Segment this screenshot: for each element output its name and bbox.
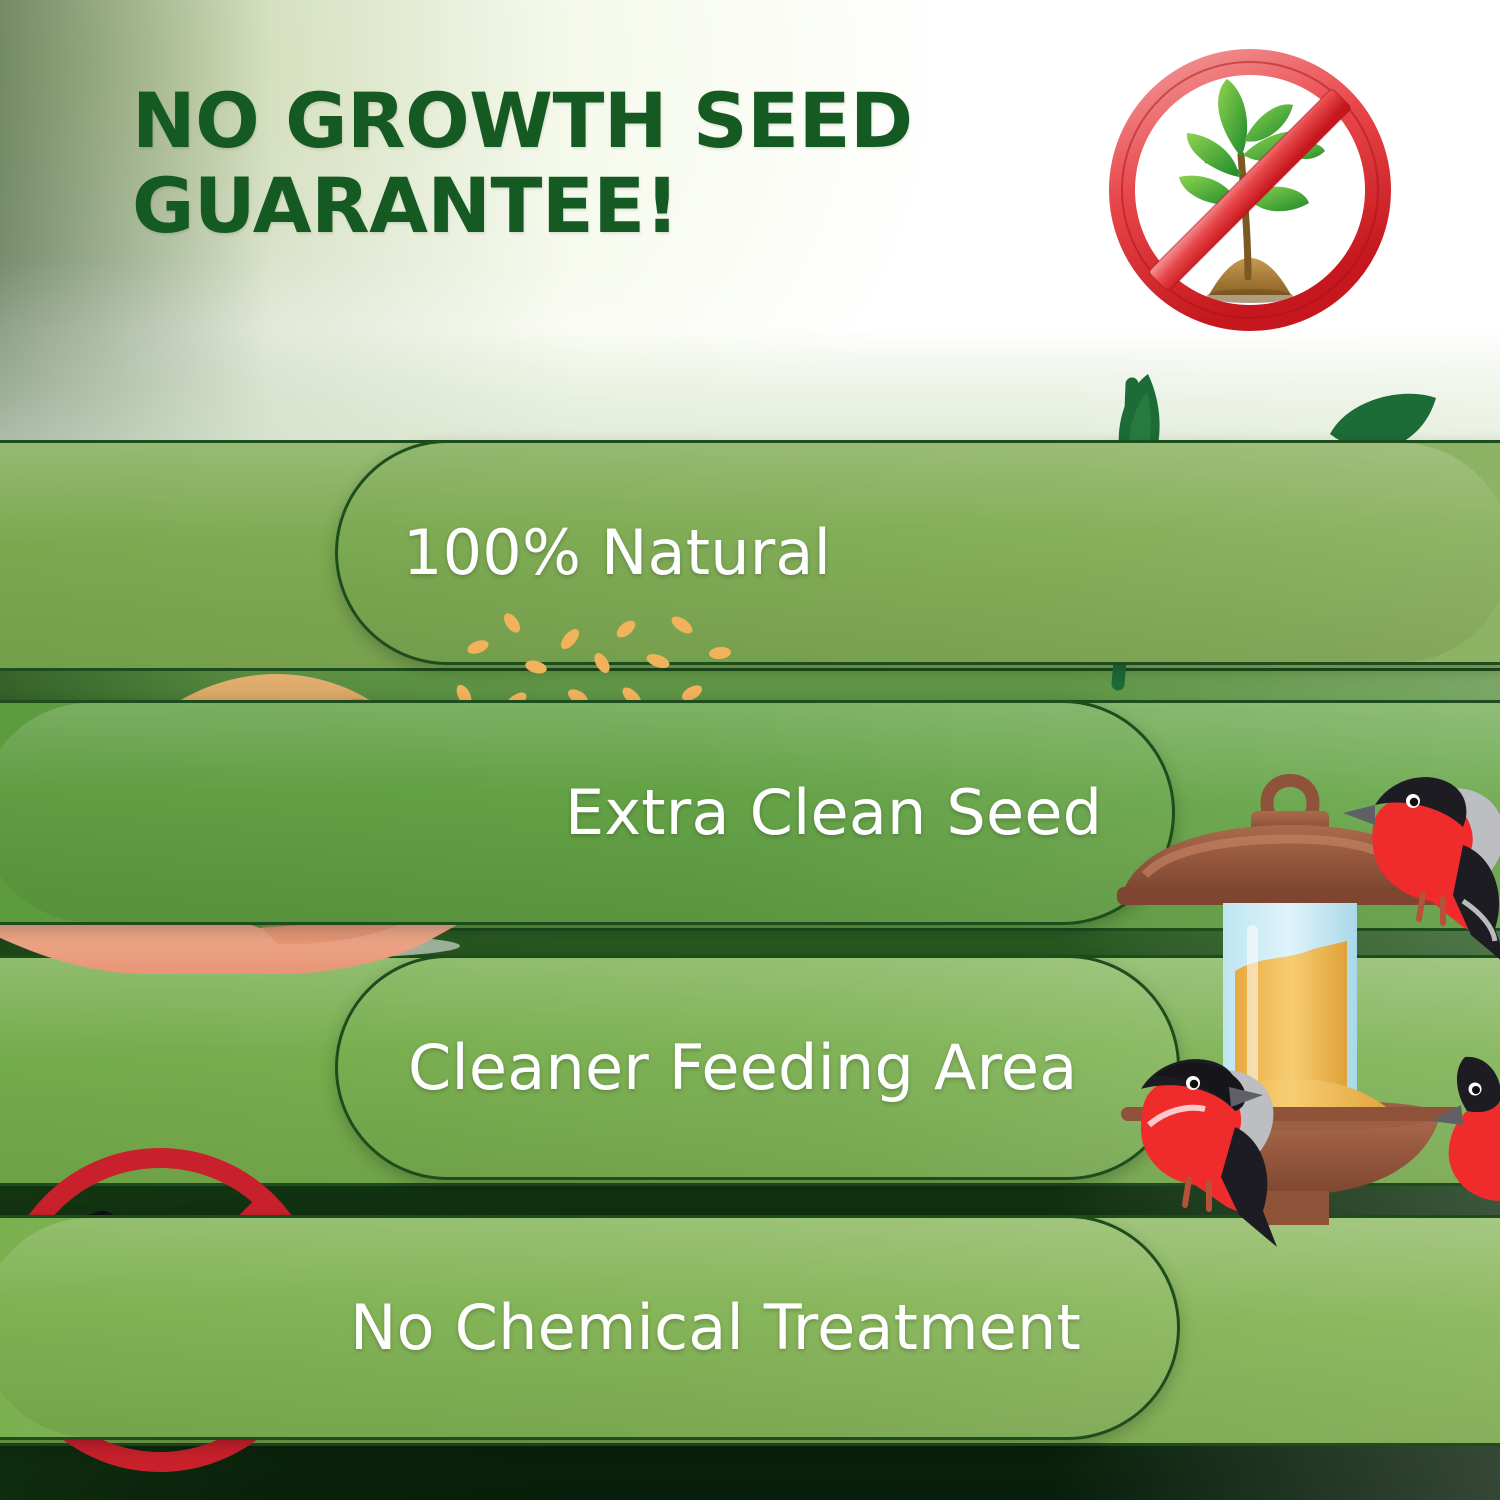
- feature-label-clean-seed: Extra Clean Seed: [565, 776, 1102, 849]
- infographic-canvas: NO GROWTH SEED GUARANTEE!: [0, 0, 1500, 1500]
- bird-feeder-with-bullfinches-illustration: [1075, 715, 1500, 1225]
- feature-pill-no-chemical[interactable]: No Chemical Treatment: [0, 1215, 1180, 1440]
- feature-pill-clean-seed[interactable]: Extra Clean Seed: [0, 700, 1175, 925]
- feature-pill-feeding-area[interactable]: Cleaner Feeding Area: [335, 955, 1180, 1180]
- feature-label-feeding-area: Cleaner Feeding Area: [408, 1031, 1077, 1104]
- headline-line-2: GUARANTEE!: [132, 163, 1052, 248]
- feature-label-natural: 100% Natural: [403, 516, 831, 589]
- feature-label-no-chemical: No Chemical Treatment: [350, 1291, 1081, 1364]
- headline-line-1: NO GROWTH SEED: [132, 78, 1052, 163]
- page-title: NO GROWTH SEED GUARANTEE!: [132, 78, 1052, 248]
- no-plant-growth-icon: [1105, 45, 1395, 335]
